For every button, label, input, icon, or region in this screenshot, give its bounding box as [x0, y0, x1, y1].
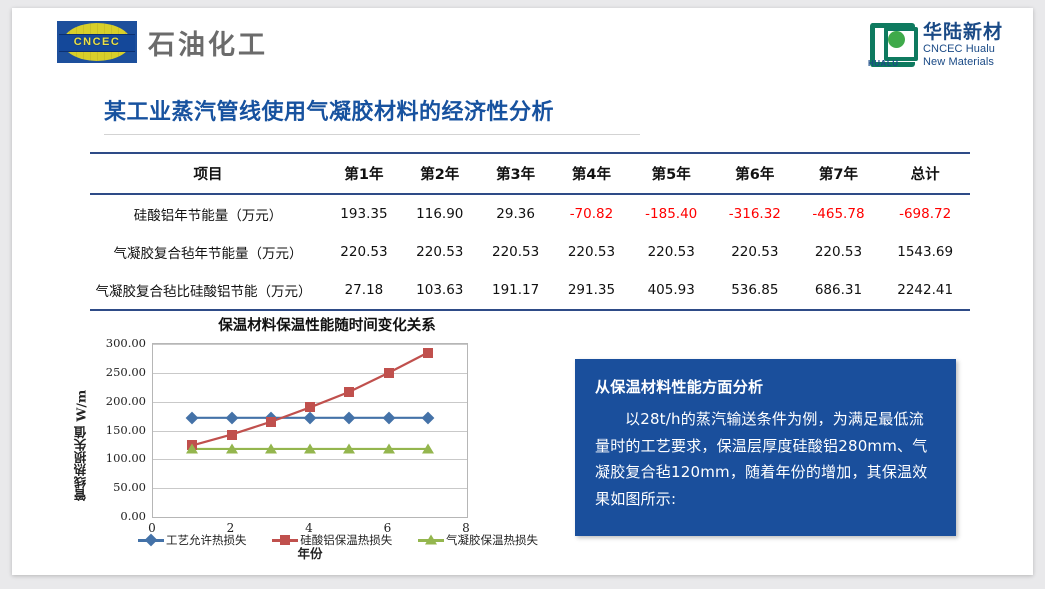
chart-data-point	[343, 443, 355, 453]
chart-x-axis-title: 年份	[152, 543, 468, 562]
chart-x-ticks: 02468	[152, 521, 468, 537]
table-row: 硅酸铝年节能量（万元） 193.35 116.90 29.36 -70.82 -…	[90, 194, 970, 233]
col-header-year-4: 第4年	[554, 153, 630, 194]
table-row: 气凝胶复合毡年节能量（万元） 220.53 220.53 220.53 220.…	[90, 233, 970, 271]
chart-data-point	[344, 387, 354, 397]
y-tick-label: 0.00	[92, 509, 146, 523]
col-header-year-5: 第5年	[629, 153, 713, 194]
chart-data-point	[423, 348, 433, 358]
cell: 220.53	[402, 233, 478, 271]
y-tick-label: 300.00	[92, 336, 146, 350]
cell: 2242.41	[880, 271, 970, 310]
col-header-year-1: 第1年	[326, 153, 402, 194]
y-tick-label: 200.00	[92, 394, 146, 408]
cell: 29.36	[478, 194, 554, 233]
chart-data-point	[305, 402, 315, 412]
cell: 291.35	[554, 271, 630, 310]
cell: 193.35	[326, 194, 402, 233]
cell: 220.53	[797, 233, 881, 271]
cell: -185.40	[629, 194, 713, 233]
chart-y-axis-title: 管线热损失值 W/m	[72, 361, 90, 529]
row-label: 气凝胶复合毡比硅酸铝节能（万元）	[90, 271, 326, 310]
table-body: 硅酸铝年节能量（万元） 193.35 116.90 29.36 -70.82 -…	[90, 194, 970, 310]
hualu-name-cn: 华陆新材	[923, 22, 1003, 43]
cncec-logo: CNCEC 石油化工	[57, 21, 268, 63]
chart-data-point	[266, 417, 276, 427]
legend-swatch-icon	[138, 539, 164, 542]
callout-heading: 从保温材料性能方面分析	[595, 376, 936, 397]
chart-data-point	[226, 443, 238, 453]
page-title: 某工业蒸汽管线使用气凝胶材料的经济性分析	[104, 94, 640, 126]
economics-table: 项目 第1年 第2年 第3年 第4年 第5年 第6年 第7年 总计 硅酸铝年节能…	[90, 152, 970, 311]
y-tick-label: 100.00	[92, 451, 146, 465]
cell: 191.17	[478, 271, 554, 310]
title-divider	[104, 134, 640, 135]
cell: 220.53	[713, 233, 797, 271]
col-header-total: 总计	[880, 153, 970, 194]
y-tick-label: 150.00	[92, 423, 146, 437]
legend-swatch-icon	[418, 539, 444, 542]
cell: 116.90	[402, 194, 478, 233]
hualu-mark-icon: HUALU	[868, 23, 914, 67]
chart-plot-area: 管线热损失值 W/m 0.0050.00100.00150.00200.0025…	[78, 343, 546, 558]
chart-data-point	[384, 368, 394, 378]
hualu-wordmark: 华陆新材 CNCEC Hualu New Materials	[923, 22, 1003, 68]
cell: 405.93	[629, 271, 713, 310]
row-label: 气凝胶复合毡年节能量（万元）	[90, 233, 326, 271]
cncec-globe-icon: CNCEC	[57, 21, 137, 63]
x-tick-label: 4	[305, 521, 313, 535]
y-tick-label: 250.00	[92, 365, 146, 379]
x-tick-label: 2	[227, 521, 235, 535]
title-block: 某工业蒸汽管线使用气凝胶材料的经济性分析	[104, 94, 640, 135]
chart-data-point	[422, 443, 434, 453]
cell: -698.72	[880, 194, 970, 233]
table-header-row: 项目 第1年 第2年 第3年 第4年 第5年 第6年 第7年 总计	[90, 153, 970, 194]
chart-data-point	[265, 443, 277, 453]
cell: 686.31	[797, 271, 881, 310]
line-chart: 保温材料保温性能随时间变化关系 管线热损失值 W/m 0.0050.00100.…	[78, 314, 546, 566]
col-header-year-2: 第2年	[402, 153, 478, 194]
cell: 27.18	[326, 271, 402, 310]
chart-plot	[152, 343, 468, 518]
x-tick-label: 6	[384, 521, 392, 535]
legend-swatch-icon	[272, 539, 298, 542]
col-header-year-7: 第7年	[797, 153, 881, 194]
cell: 220.53	[554, 233, 630, 271]
table-head: 项目 第1年 第2年 第3年 第4年 第5年 第6年 第7年 总计	[90, 153, 970, 194]
x-tick-label: 0	[148, 521, 156, 535]
chart-data-point	[186, 443, 198, 453]
slide-header: CNCEC 石油化工 HUALU 华陆新材 CNCEC Hualu New Ma…	[12, 8, 1033, 74]
cell: -316.32	[713, 194, 797, 233]
chart-data-point	[304, 443, 316, 453]
cncec-badge-text: CNCEC	[74, 36, 121, 48]
col-header-year-3: 第3年	[478, 153, 554, 194]
hualu-name-en-1: CNCEC Hualu	[923, 43, 1003, 55]
slide-canvas: CNCEC 石油化工 HUALU 华陆新材 CNCEC Hualu New Ma…	[12, 8, 1033, 575]
col-header-item: 项目	[90, 153, 326, 194]
hualu-name-en-2: New Materials	[923, 56, 1003, 68]
row-label: 硅酸铝年节能量（万元）	[90, 194, 326, 233]
table-row: 气凝胶复合毡比硅酸铝节能（万元） 27.18 103.63 191.17 291…	[90, 271, 970, 310]
chart-data-point	[227, 430, 237, 440]
cell: 220.53	[629, 233, 713, 271]
chart-title: 保温材料保温性能随时间变化关系	[108, 314, 546, 335]
analysis-callout: 从保温材料性能方面分析 以28t/h的蒸汽输送条件为例，为满足最低流量时的工艺要…	[575, 359, 956, 536]
cell: -465.78	[797, 194, 881, 233]
hualu-logo: HUALU 华陆新材 CNCEC Hualu New Materials	[868, 22, 1003, 68]
callout-body: 以28t/h的蒸汽输送条件为例，为满足最低流量时的工艺要求，保温层厚度硅酸铝28…	[595, 406, 936, 513]
x-tick-label: 8	[462, 521, 470, 535]
y-tick-label: 50.00	[92, 480, 146, 494]
chart-data-point	[383, 443, 395, 453]
cncec-brand-cn: 石油化工	[148, 23, 268, 62]
col-header-year-6: 第6年	[713, 153, 797, 194]
chart-series-lines	[153, 344, 467, 517]
hualu-mark-label: HUALU	[868, 59, 899, 68]
cell: -70.82	[554, 194, 630, 233]
cell: 536.85	[713, 271, 797, 310]
chart-y-ticks: 0.0050.00100.00150.00200.00250.00300.00	[92, 343, 146, 518]
row-label-text: 气凝胶复合毡比硅酸铝节能（万元）	[96, 280, 312, 300]
cell: 1543.69	[880, 233, 970, 271]
cell: 103.63	[402, 271, 478, 310]
cell: 220.53	[478, 233, 554, 271]
cell: 220.53	[326, 233, 402, 271]
